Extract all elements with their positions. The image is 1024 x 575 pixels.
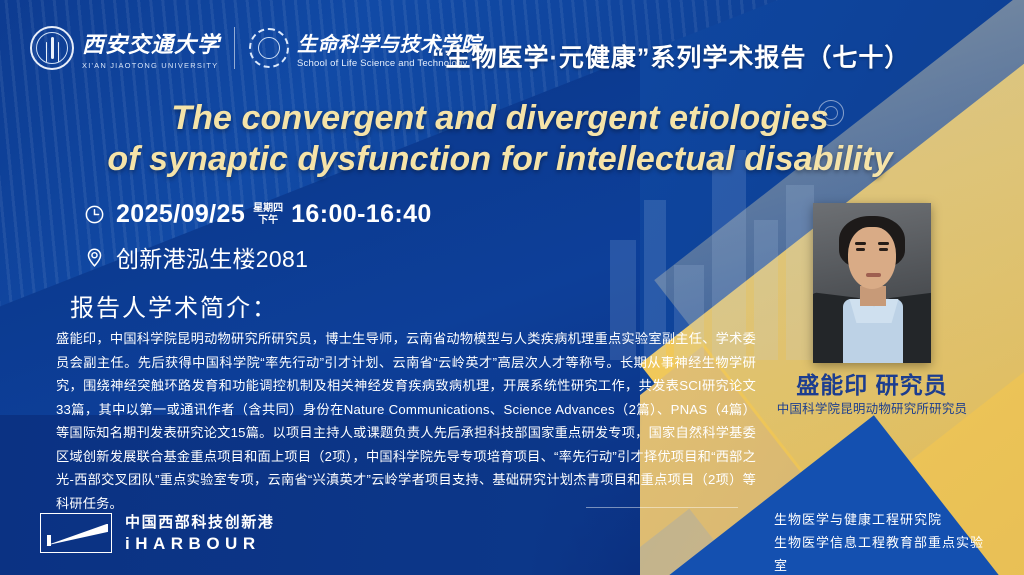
xjtu-wordmark: 西安交通大学 XI'AN JIAOTONG UNIVERSITY bbox=[82, 27, 220, 70]
photo-brow-left bbox=[855, 242, 866, 245]
xjtu-seal-icon bbox=[30, 26, 74, 70]
series-title: “生物医学·元健康”系列学术报告（七十） bbox=[432, 38, 910, 74]
talk-date: 2025/09/25 bbox=[116, 200, 245, 229]
iharbour-name-cn: 中国西部科技创新港 bbox=[125, 511, 274, 532]
talk-time: 16:00-16:40 bbox=[291, 200, 432, 229]
logo-divider bbox=[234, 27, 235, 69]
footer-org-line1: 生物医学与健康工程研究院 bbox=[774, 509, 994, 532]
iharbour-logo: 中国西部科技创新港 iHARBOUR bbox=[40, 511, 274, 554]
header-logos: 西安交通大学 XI'AN JIAOTONG UNIVERSITY 生命科学与技术… bbox=[30, 26, 482, 70]
seminar-poster: 西安交通大学 XI'AN JIAOTONG UNIVERSITY 生命科学与技术… bbox=[0, 0, 1024, 575]
talk-title-line1: The convergent and divergent etiologies bbox=[171, 99, 829, 137]
talk-title-line2: of synaptic dysfunction for intellectual… bbox=[0, 139, 1000, 180]
talk-title: The convergent and divergent etiologies … bbox=[0, 98, 1000, 181]
talk-meta: 2025/09/25 星期四 下午 16:00-16:40 创新港泓生楼2081 bbox=[84, 200, 432, 285]
iharbour-name-en: iHARBOUR bbox=[125, 534, 274, 554]
iharbour-mark-icon bbox=[40, 513, 112, 553]
speaker-name: 盛能印 研究员 bbox=[744, 366, 1000, 400]
weekday-period: 下午 bbox=[258, 215, 278, 226]
speaker-photo bbox=[813, 203, 931, 363]
photo-eye-left bbox=[856, 248, 865, 251]
footer-divider bbox=[586, 507, 738, 508]
datetime-row: 2025/09/25 星期四 下午 16:00-16:40 bbox=[84, 200, 432, 229]
photo-eye-right bbox=[879, 248, 888, 251]
bio-heading: 报告人学术简介： bbox=[70, 288, 278, 323]
speaker-affiliation: 中国科学院昆明动物研究所研究员 bbox=[736, 398, 1008, 417]
clock-icon bbox=[84, 204, 105, 225]
footer-organizations: 生物医学与健康工程研究院 生物医学信息工程教育部重点实验室 bbox=[774, 509, 994, 575]
xjtu-name-en: XI'AN JIAOTONG UNIVERSITY bbox=[82, 61, 220, 70]
location-pin-icon bbox=[84, 247, 105, 268]
weekday-day: 星期四 bbox=[253, 203, 283, 214]
xjtu-name-cn: 西安交通大学 bbox=[82, 27, 220, 59]
photo-neck bbox=[860, 286, 886, 306]
talk-venue: 创新港泓生楼2081 bbox=[116, 240, 308, 274]
bio-text: 盛能印，中国科学院昆明动物研究所研究员，博士生导师，云南省动物模型与人类疾病机理… bbox=[56, 327, 756, 515]
school-gear-icon bbox=[249, 28, 289, 68]
venue-row: 创新港泓生楼2081 bbox=[84, 240, 432, 274]
footer-org-line2: 生物医学信息工程教育部重点实验室 bbox=[774, 532, 994, 575]
photo-face bbox=[848, 227, 896, 289]
photo-brow-right bbox=[878, 242, 889, 245]
talk-weekday: 星期四 下午 bbox=[253, 203, 283, 226]
photo-mouth bbox=[866, 273, 881, 277]
iharbour-wordmark: 中国西部科技创新港 iHARBOUR bbox=[125, 511, 274, 554]
